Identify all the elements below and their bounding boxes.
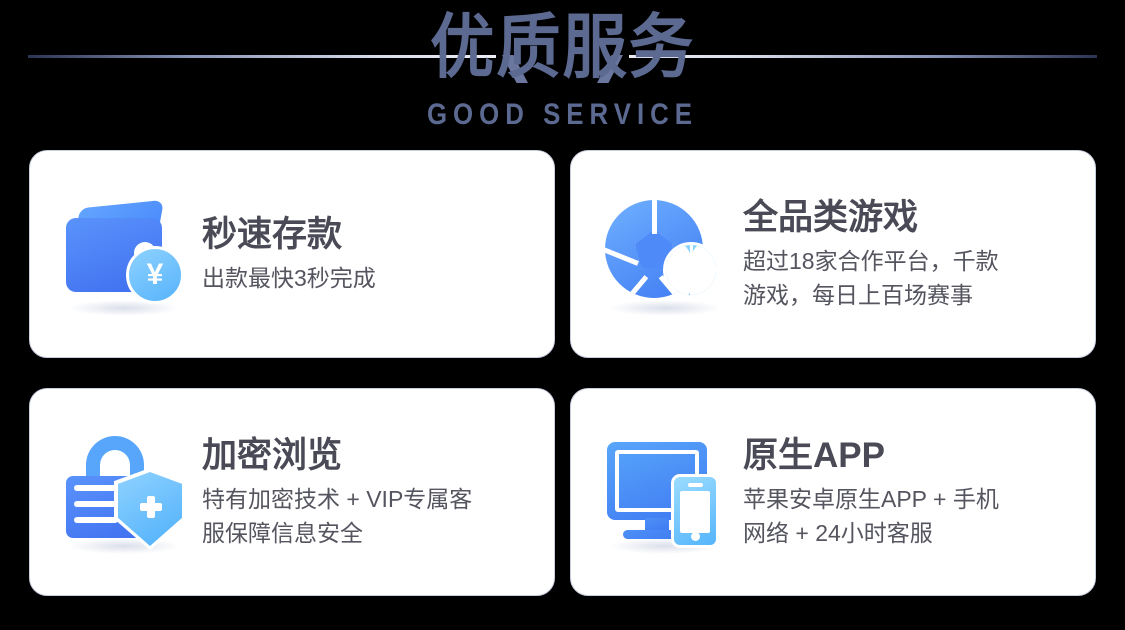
soccer-seam — [652, 200, 657, 234]
card-subtitle-line: 服保障信息安全 — [202, 516, 536, 550]
icon-shadow — [609, 300, 721, 316]
plus-cross-icon — [140, 496, 162, 518]
card-text-block: 全品类游戏 超过18家合作平台，千款 游戏，每日上百场赛事 — [743, 196, 1077, 312]
page-header: 优质服务 GOOD SERVICE — [0, 0, 1125, 140]
soccer-basketball-icon — [601, 190, 729, 318]
card-title: 原生APP — [743, 434, 1077, 478]
page-title: 优质服务 — [45, 8, 1080, 86]
card-title: 秒速存款 — [202, 213, 536, 257]
monitor-phone-icon — [601, 428, 729, 556]
card-subtitle-line: 超过18家合作平台，千款 — [743, 244, 1077, 278]
icon-shadow — [68, 538, 180, 554]
feature-card-native-app[interactable]: 原生APP 苹果安卓原生APP + 手机 网络 + 24小时客服 — [570, 388, 1096, 596]
wallet-yen-icon: ¥ — [60, 190, 188, 318]
lock-shield-icon — [60, 428, 188, 556]
cross-bar — [140, 503, 162, 511]
yen-symbol: ¥ — [147, 260, 164, 290]
card-title: 全品类游戏 — [743, 196, 1077, 240]
phone-speaker — [688, 483, 703, 487]
feature-card-encryption[interactable]: 加密浏览 特有加密技术 + VIP专属客 服保障信息安全 — [29, 388, 555, 596]
card-text-block: 秒速存款 出款最快3秒完成 — [202, 213, 536, 295]
card-title: 加密浏览 — [202, 434, 536, 478]
card-subtitle-line: 特有加密技术 + VIP专属客 — [202, 482, 536, 516]
feature-card-games[interactable]: 全品类游戏 超过18家合作平台，千款 游戏，每日上百场赛事 — [570, 150, 1096, 358]
phone-home-button — [691, 532, 700, 541]
smartphone — [671, 474, 719, 548]
card-subtitle-line: 游戏，每日上百场赛事 — [743, 278, 1077, 312]
basketball — [663, 242, 719, 298]
phone-screen — [680, 491, 710, 533]
card-text-block: 原生APP 苹果安卓原生APP + 手机 网络 + 24小时客服 — [743, 434, 1077, 550]
yen-coin-badge: ¥ — [126, 246, 184, 304]
page-subtitle: GOOD SERVICE — [79, 98, 1047, 132]
basketball-curve — [688, 242, 719, 298]
card-subtitle-line: 网络 + 24小时客服 — [743, 516, 1077, 550]
feature-card-grid: ¥ 秒速存款 出款最快3秒完成 — [29, 150, 1096, 596]
card-subtitle-line: 苹果安卓原生APP + 手机 — [743, 482, 1077, 516]
card-subtitle-line: 出款最快3秒完成 — [202, 261, 536, 295]
feature-card-deposit[interactable]: ¥ 秒速存款 出款最快3秒完成 — [29, 150, 555, 358]
card-text-block: 加密浏览 特有加密技术 + VIP专属客 服保障信息安全 — [202, 434, 536, 550]
lock-stripe — [74, 517, 118, 523]
